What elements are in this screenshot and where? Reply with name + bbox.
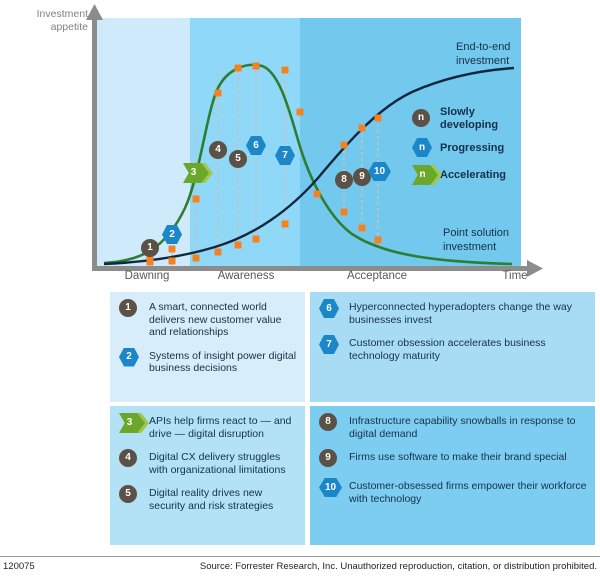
infographic-root: Investment appetite Dawning Awareness Ac… — [0, 0, 600, 576]
y-axis-label: Investment appetite — [18, 8, 88, 34]
item-badge-10: 10 — [316, 478, 346, 498]
list-item[interactable]: 2 Systems of insight power digital busin… — [116, 348, 297, 375]
footer-divider — [0, 556, 600, 557]
band-label-awareness: Awareness — [203, 270, 289, 282]
item-badge-3-number: 3 — [127, 418, 133, 428]
slowly-developing-icon: 4 — [119, 449, 137, 467]
legend-label-progressing: Progressing — [440, 142, 504, 155]
list-item[interactable]: 9 Firms use software to make their brand… — [316, 449, 587, 469]
list-item[interactable]: 3 APIs help firms react to — and drive —… — [116, 413, 297, 440]
chart-marker-3-label: 3 — [191, 168, 197, 178]
chart-marker-6-label: 6 — [253, 141, 259, 151]
list-item[interactable]: 4 Digital CX delivery struggles with org… — [116, 449, 297, 476]
item-badge-10-number: 10 — [325, 483, 336, 493]
item-text-8: Infrastructure capability snowballs in r… — [349, 413, 587, 440]
item-badge-3: 3 — [116, 413, 146, 433]
item-text-2: Systems of insight power digital busines… — [149, 348, 297, 375]
legend-label-slowly-developing-line2: developing — [440, 119, 498, 132]
chart-marker-7-label: 7 — [282, 151, 288, 161]
callout-quadrant-bottom-left: 3 APIs help firms react to — and drive —… — [110, 406, 305, 545]
progressing-icon: 6 — [319, 299, 339, 318]
item-badge-2: 2 — [116, 348, 146, 368]
progressing-icon: 2 — [119, 348, 139, 367]
callout-panel: 1 A smart, connected world delivers new … — [110, 292, 595, 545]
legend-swatch-progressing: n — [410, 138, 440, 158]
item-text-9: Firms use software to make their brand s… — [349, 449, 567, 464]
legend-item-accelerating: n Accelerating — [410, 165, 535, 185]
chart-marker-1-label: 1 — [147, 243, 153, 253]
legend-item-slowly-developing: n Slowly developing — [410, 106, 535, 131]
chart-marker-1[interactable]: 1 — [141, 239, 159, 257]
item-badge-1-number: 1 — [125, 303, 131, 313]
chart-marker-3[interactable]: 3 — [183, 163, 213, 183]
point-solution-annotation-line2: investment — [443, 241, 509, 255]
band-label-dawning: Dawning — [108, 270, 186, 282]
legend-swatch-accelerating: n — [410, 165, 440, 185]
item-badge-8: 8 — [316, 413, 346, 433]
list-item[interactable]: 10 Customer-obsessed firms empower their… — [316, 478, 587, 505]
legend-item-progressing: n Progressing — [410, 138, 535, 158]
item-badge-9: 9 — [316, 449, 346, 469]
legend-label-slowly-developing-line1: Slowly — [440, 106, 498, 119]
item-badge-5-number: 5 — [125, 489, 131, 499]
legend: n Slowly developing n Progressing n Acce — [410, 106, 535, 192]
item-badge-5: 5 — [116, 485, 146, 505]
list-item[interactable]: 8 Infrastructure capability snowballs in… — [316, 413, 587, 440]
slowly-developing-icon: 8 — [319, 413, 337, 431]
legend-badge-accelerating: n — [419, 170, 425, 180]
item-badge-7-number: 7 — [326, 340, 332, 350]
list-item[interactable]: 6 Hyperconnected hyperadopters change th… — [316, 299, 587, 326]
x-axis-label-time: Time — [490, 270, 540, 282]
chart-marker-5-label: 5 — [235, 154, 241, 164]
list-item[interactable]: 5 Digital reality drives new security an… — [116, 485, 297, 512]
list-item[interactable]: 1 A smart, connected world delivers new … — [116, 299, 297, 339]
legend-badge-slowly-developing: n — [418, 113, 424, 123]
progressing-icon: 7 — [319, 335, 339, 354]
item-badge-4: 4 — [116, 449, 146, 469]
y-axis-label-line1: Investment — [18, 8, 88, 21]
item-badge-6: 6 — [316, 299, 346, 319]
slowly-developing-icon: 5 — [119, 485, 137, 503]
item-badge-6-number: 6 — [326, 304, 332, 314]
chart-marker-5[interactable]: 5 — [229, 150, 247, 168]
chart-marker-8-label: 8 — [341, 175, 347, 185]
legend-badge-progressing: n — [419, 143, 425, 153]
end-to-end-annotation: End-to-end investment — [456, 41, 510, 68]
callout-quadrant-top-right: 6 Hyperconnected hyperadopters change th… — [310, 292, 595, 402]
y-axis-label-line2: appetite — [18, 21, 88, 34]
callout-quadrant-bottom-right: 8 Infrastructure capability snowballs in… — [310, 406, 595, 545]
item-badge-9-number: 9 — [325, 453, 331, 463]
list-item[interactable]: 7 Customer obsession accelerates busines… — [316, 335, 587, 362]
item-text-6: Hyperconnected hyperadopters change the … — [349, 299, 587, 326]
chart-marker-4[interactable]: 4 — [209, 141, 227, 159]
legend-swatch-slowly-developing: n — [410, 109, 440, 129]
chart-marker-9-label: 9 — [359, 172, 365, 182]
point-solution-annotation: Point solution investment — [443, 227, 509, 254]
footer-document-id: 120075 — [3, 561, 35, 572]
item-badge-2-number: 2 — [126, 352, 132, 362]
chart-marker-4-label: 4 — [215, 145, 221, 155]
end-to-end-annotation-line2: investment — [456, 55, 510, 69]
band-label-acceptance: Acceptance — [330, 270, 424, 282]
chart-area: Investment appetite Dawning Awareness Ac… — [0, 0, 600, 290]
item-text-10: Customer-obsessed firms empower their wo… — [349, 478, 587, 505]
item-text-3: APIs help firms react to — and drive — d… — [149, 413, 297, 440]
legend-label-accelerating: Accelerating — [440, 169, 506, 182]
band-awareness — [190, 18, 300, 266]
item-text-7: Customer obsession accelerates business … — [349, 335, 587, 362]
chart-marker-2-label: 2 — [169, 230, 175, 240]
slowly-developing-icon: n — [412, 109, 430, 127]
slowly-developing-icon: 1 — [119, 299, 137, 317]
point-solution-annotation-line1: Point solution — [443, 227, 509, 241]
callout-quadrant-top-left: 1 A smart, connected world delivers new … — [110, 292, 305, 402]
legend-label-slowly-developing: Slowly developing — [440, 106, 498, 131]
footer-source-notice: Source: Forrester Research, Inc. Unautho… — [200, 561, 597, 572]
progressing-icon: 10 — [319, 478, 342, 497]
end-to-end-annotation-line1: End-to-end — [456, 41, 510, 55]
item-badge-8-number: 8 — [325, 417, 331, 427]
item-text-5: Digital reality drives new security and … — [149, 485, 297, 512]
slowly-developing-icon: 9 — [319, 449, 337, 467]
chart-marker-8[interactable]: 8 — [335, 171, 353, 189]
chart-marker-9[interactable]: 9 — [353, 168, 371, 186]
item-badge-7: 7 — [316, 335, 346, 355]
progressing-icon: n — [412, 138, 432, 157]
item-badge-1: 1 — [116, 299, 146, 319]
item-text-4: Digital CX delivery struggles with organ… — [149, 449, 297, 476]
item-text-1: A smart, connected world delivers new cu… — [149, 299, 297, 339]
chart-marker-10-label: 10 — [374, 167, 385, 177]
item-badge-4-number: 4 — [125, 453, 131, 463]
